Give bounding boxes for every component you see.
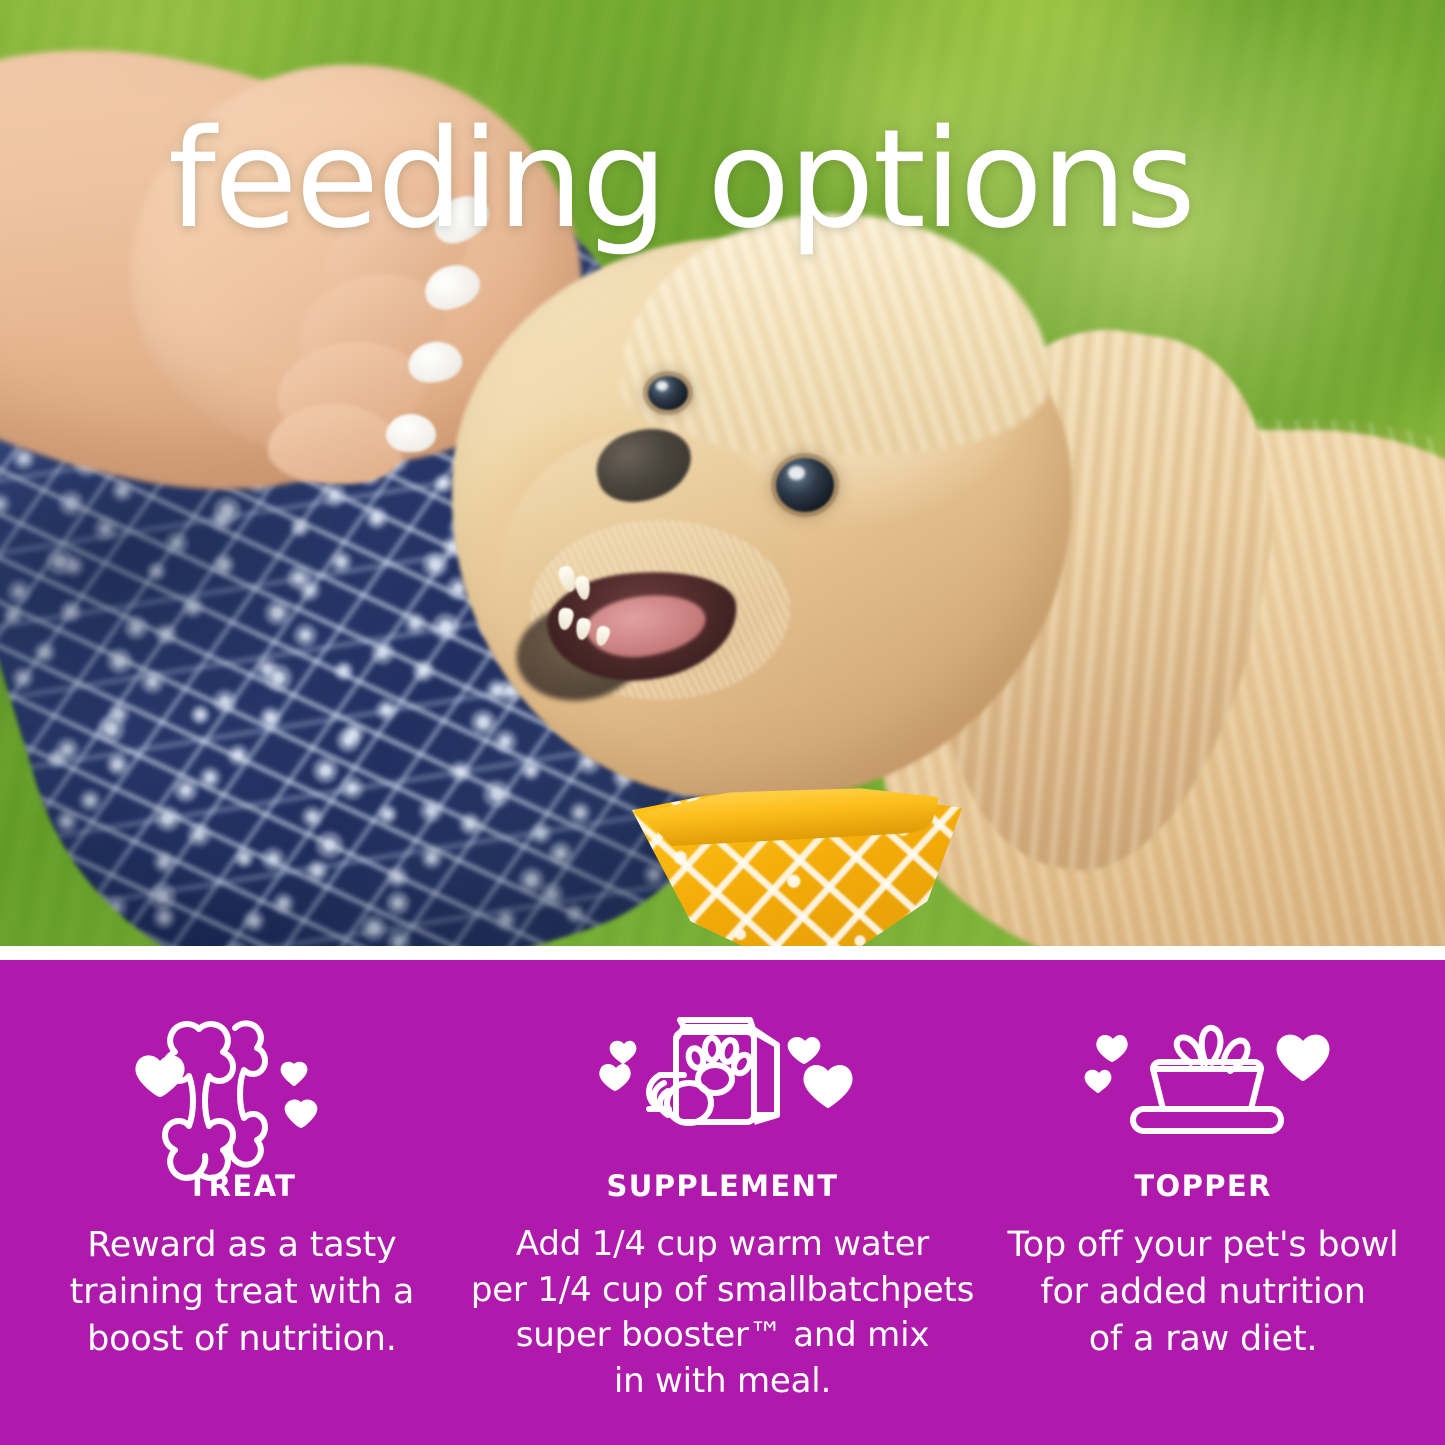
- page-title: feeding options: [168, 112, 1194, 248]
- feeding-option-label: TREAT: [187, 1172, 296, 1201]
- feeding-option-label: SUPPLEMENT: [607, 1172, 839, 1201]
- feeding-option-label: TOPPER: [1134, 1172, 1271, 1201]
- food-bag-paw-hearts-icon: [572, 1006, 872, 1156]
- hero-photo: feeding options: [0, 0, 1445, 946]
- feeding-option-topper: TOPPER Top off your pet's bowl for added…: [987, 1006, 1419, 1363]
- dog-bone-hearts-icon: [127, 1006, 357, 1156]
- feeding-option-description: Add 1/4 cup warm water per 1/4 cup of sm…: [471, 1222, 974, 1404]
- fingernail: [386, 414, 436, 452]
- dog-eye-highlight: [656, 381, 668, 391]
- feeding-options-panel: TREAT Reward as a tasty training treat w…: [0, 960, 1445, 1445]
- dog-bowl-hearts-icon: [1073, 1006, 1333, 1156]
- feeding-option-description: Top off your pet's bowl for added nutrit…: [1008, 1222, 1399, 1363]
- dog-eye-highlight: [788, 466, 805, 480]
- dog-eye-left: [648, 376, 688, 410]
- feeding-option-supplement: SUPPLEMENT Add 1/4 cup warm water per 1/…: [458, 1006, 987, 1404]
- feeding-options-infographic: feeding options TREAT Rew: [0, 0, 1445, 1445]
- feeding-option-treat: TREAT Reward as a tasty training treat w…: [26, 1006, 458, 1363]
- dog-eye-right: [776, 458, 834, 512]
- feeding-option-description: Reward as a tasty training treat with a …: [70, 1222, 415, 1363]
